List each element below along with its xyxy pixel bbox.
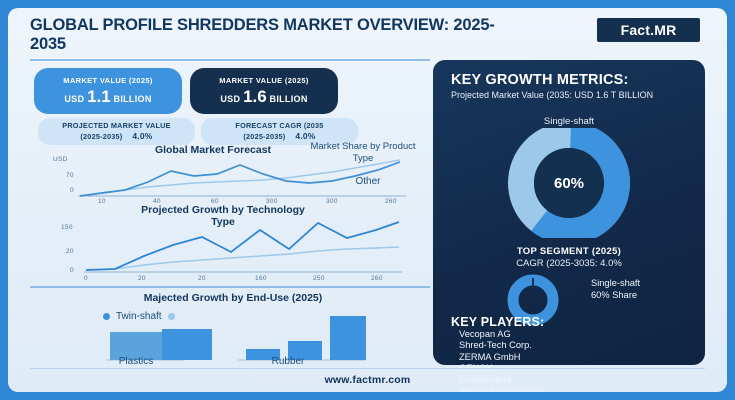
top-segment-title: TOP SEGMENT (2025) xyxy=(433,246,705,257)
series-technology-a-line xyxy=(86,222,399,270)
stat-market-value-2025: MARKET VALUE (2025) USD 1.1 BILLION xyxy=(34,68,182,114)
stat-suffix: BILLION xyxy=(114,94,152,104)
ytick-20: 20 xyxy=(66,248,74,255)
bar-rubber-c xyxy=(330,316,366,360)
page-title: GLOBAL PROFILE SHREDDERS MARKET OVERVIEW… xyxy=(30,16,500,54)
stat-suffix: BILLION xyxy=(270,94,308,104)
xtick-5: 260 xyxy=(385,198,397,205)
stat-caption: PROJECTED MARKET VALUE xyxy=(62,121,170,131)
ytick-150: 150 xyxy=(61,224,73,231)
top-segment-subtitle: CAGR (2025-3035: 4.0% xyxy=(433,258,705,269)
donut-center-value: 60% xyxy=(433,175,705,192)
stat-prefix: USD xyxy=(220,94,240,104)
ytick-70: 70 xyxy=(66,172,74,179)
stat-projected-market-value: PROJECTED MARKET VALUE (2025-2035) 4.0% xyxy=(38,118,195,145)
stat-caption: MARKET VALUE (2025) xyxy=(63,76,152,85)
chart-projected-growth-technology xyxy=(84,220,404,275)
stat-value: 4.0% xyxy=(132,131,152,141)
stat-value: USD 1.1 BILLION xyxy=(64,87,151,107)
stat-caption: FORECAST CAGR (2035 xyxy=(235,121,323,131)
xtick-3: 160 xyxy=(255,275,267,282)
xtick-4: 250 xyxy=(313,275,325,282)
ytick-0: 0 xyxy=(70,187,74,194)
xtick-1: 20 xyxy=(138,275,146,282)
panel-heading: KEY GROWTH METRICS: xyxy=(451,72,629,88)
key-players-title: KEY PLAYERS: xyxy=(451,315,544,329)
header-divider xyxy=(30,59,430,61)
list-item: Vecopan AG xyxy=(459,329,546,340)
xtick-0: 0 xyxy=(84,275,88,282)
panel-subtext: Projected Market Value (2035: USD 1.6 T … xyxy=(451,90,691,101)
stat-value: USD 1.6 BILLION xyxy=(220,87,307,107)
infographic-frame: GLOBAL PROFILE SHREDDERS MARKET OVERVIEW… xyxy=(8,8,727,392)
bar-category-rubber: Rubber xyxy=(248,356,328,367)
stat-range: (2025-2035) xyxy=(80,132,122,142)
stat-number: 1.1 xyxy=(87,87,111,106)
list-item: Shred-Tech Corp. xyxy=(459,340,546,351)
stat-range: (2025-2035) xyxy=(243,132,285,142)
footer-url[interactable]: www.factmr.com xyxy=(325,374,411,386)
xtick-4: 300 xyxy=(326,198,338,205)
stat-number: 1.6 xyxy=(243,87,267,106)
chart-global-market-forecast xyxy=(78,150,408,200)
key-growth-metrics-panel: KEY GROWTH METRICS: Projected Market Val… xyxy=(433,60,705,365)
brand-logo: Fact.MR xyxy=(597,18,700,42)
xtick-5: 260 xyxy=(371,275,383,282)
chart-title-projected-growth-enduse: Majected Growth by End-Use (2025) xyxy=(68,292,398,304)
bar-category-plastics: Plastics xyxy=(96,356,176,367)
xtick-2: 20 xyxy=(198,275,206,282)
stat-caption: MARKET VALUE (2025) xyxy=(219,76,308,85)
series-technology-b-line xyxy=(86,247,399,270)
axis-label-usd: USD xyxy=(53,156,68,163)
xtick-0: 10 xyxy=(98,198,106,205)
mini-legend-line-1: Single-shaft xyxy=(591,278,640,290)
section-divider xyxy=(30,286,430,288)
donut-label-single-shaft: Single-shaft xyxy=(433,116,705,127)
header: GLOBAL PROFILE SHREDDERS MARKET OVERVIEW… xyxy=(8,8,727,56)
ytick-0: 0 xyxy=(70,267,74,274)
footer: www.factmr.com xyxy=(8,368,727,392)
mini-legend-line-2: 60% Share xyxy=(591,290,640,302)
list-item: ZERMA GmbH xyxy=(459,352,546,363)
stat-prefix: USD xyxy=(64,94,84,104)
stat-row: (2025-2035) 4.0% xyxy=(80,131,152,142)
stat-value: 4.0% xyxy=(295,131,315,141)
stat-market-value-2035: MARKET VALUE (2025) USD 1.6 BILLION xyxy=(190,68,338,114)
mini-donut-legend: Single-shaft 60% Share xyxy=(591,278,640,301)
series-market-share-line xyxy=(80,162,400,196)
